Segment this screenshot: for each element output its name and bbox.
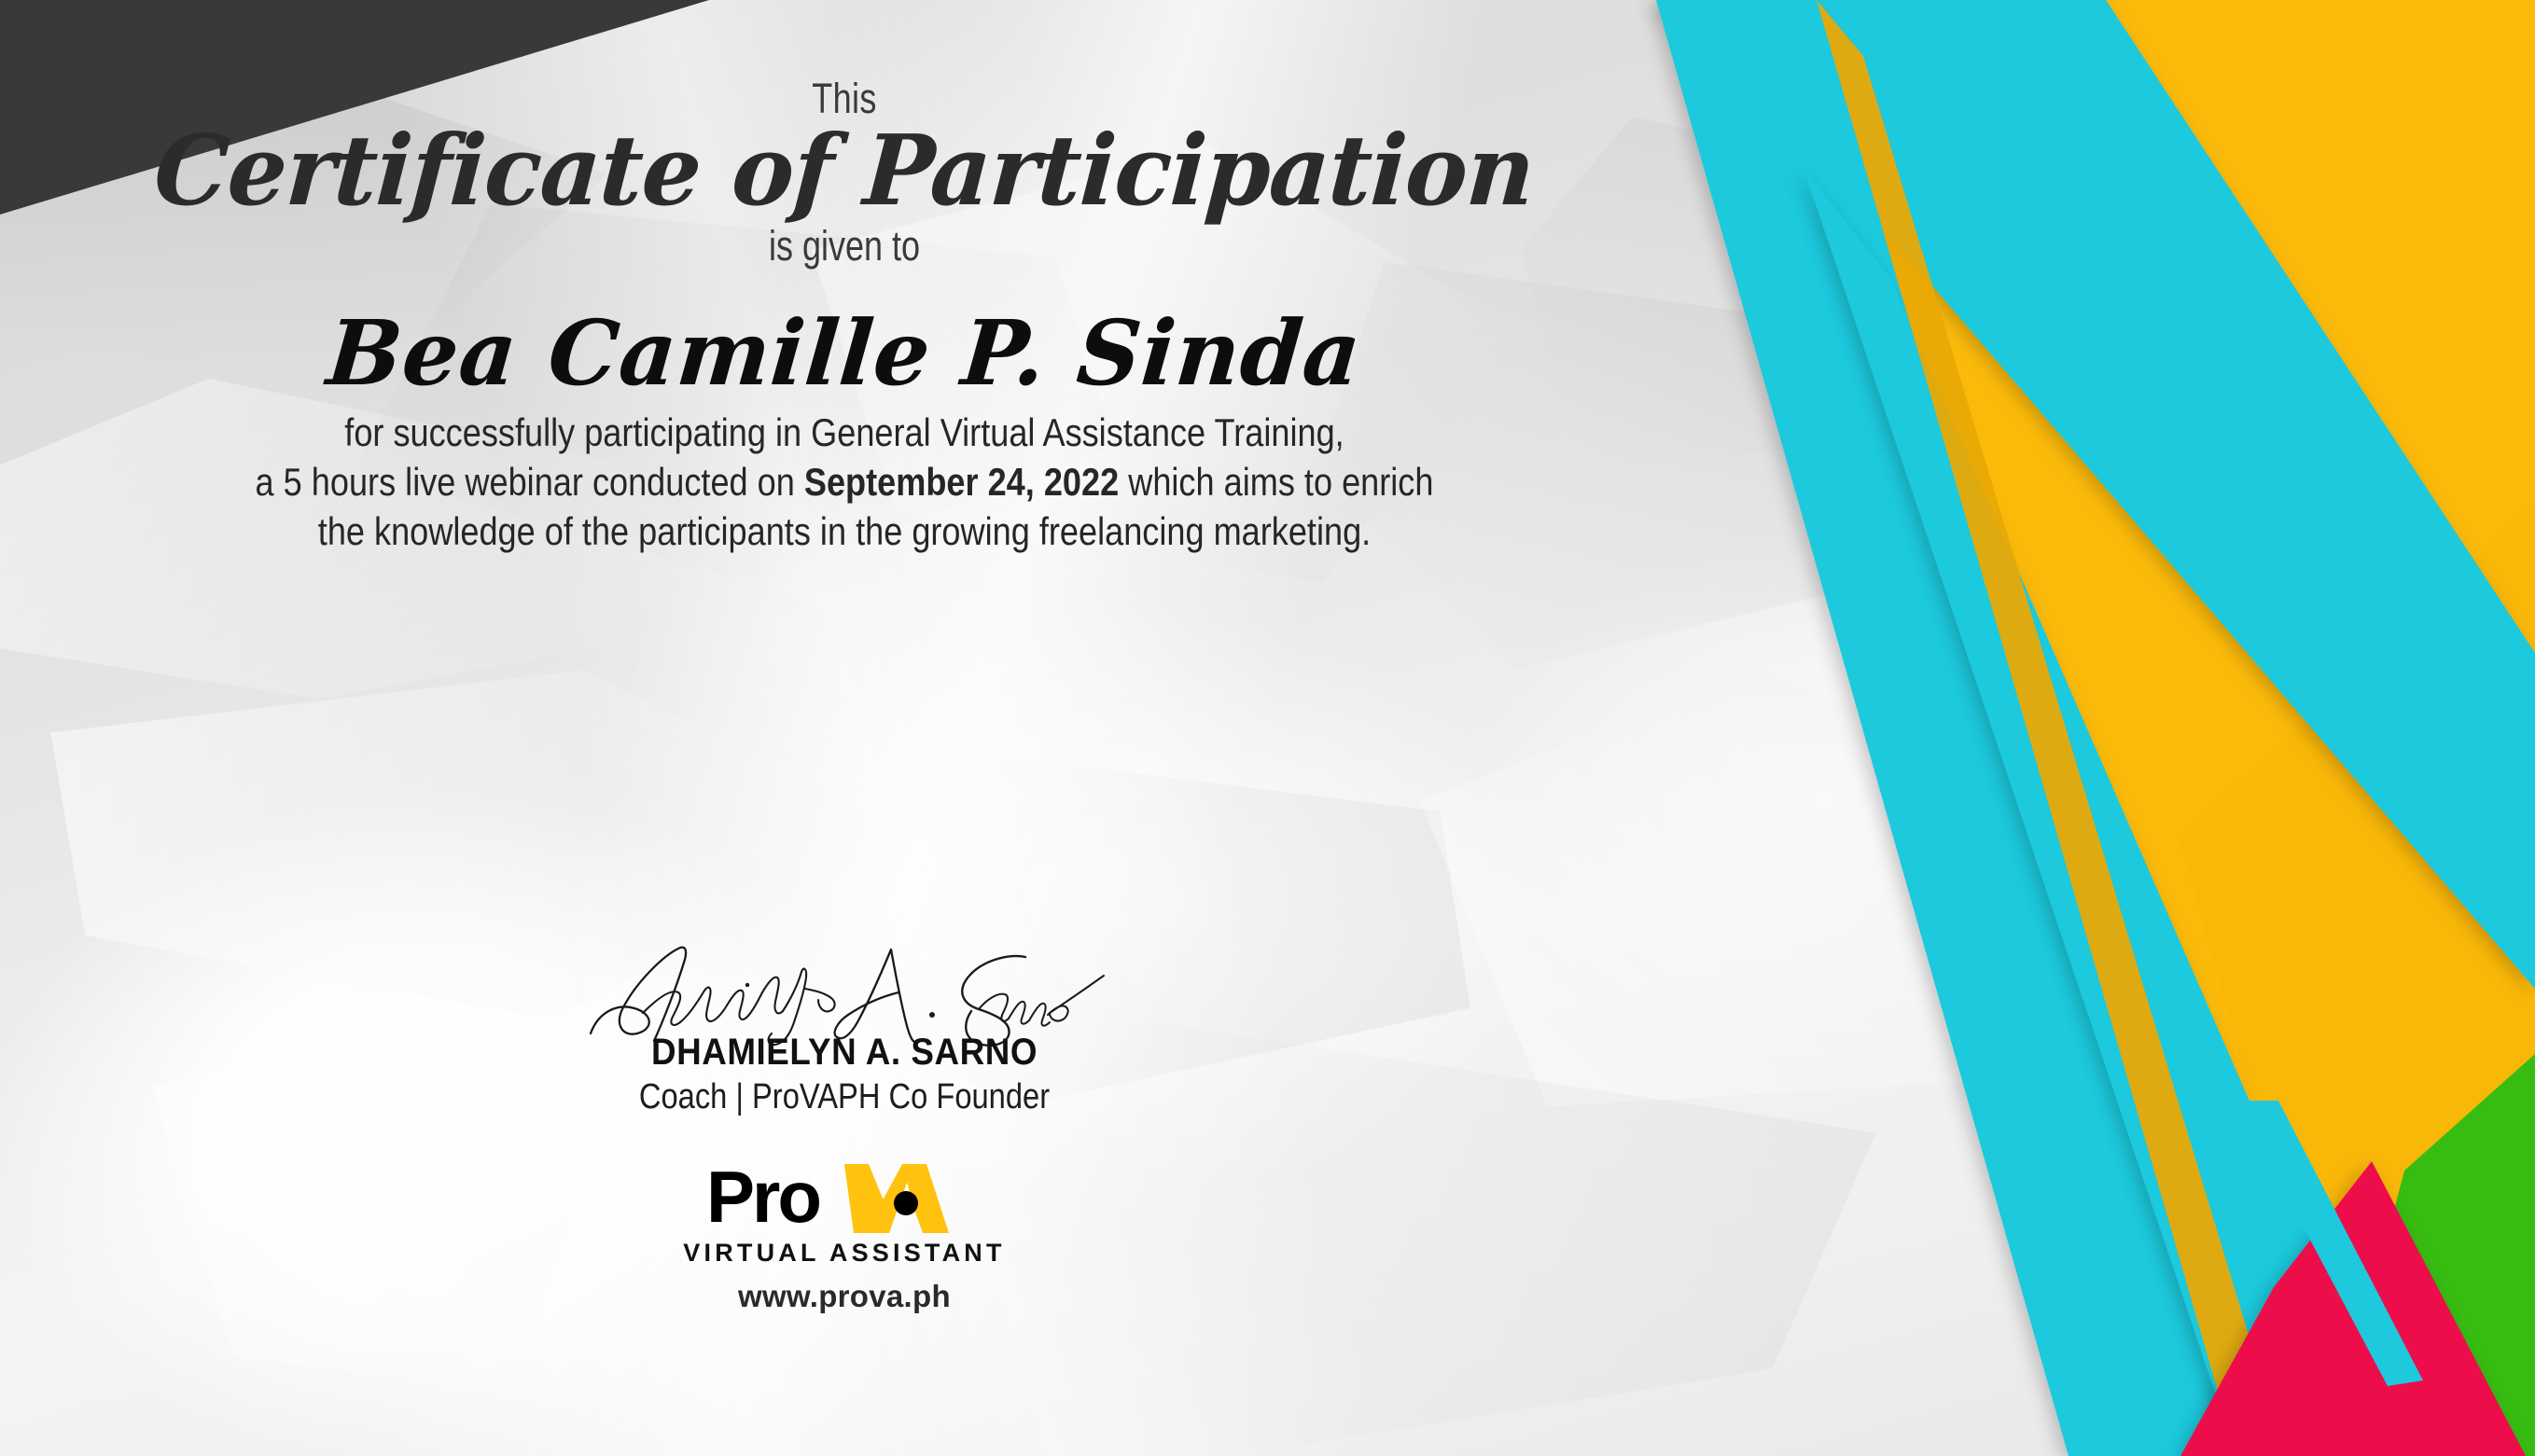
- event-date: September 24, 2022: [804, 460, 1119, 504]
- logo-tagline: VIRTUAL ASSISTANT: [0, 1239, 1689, 1268]
- certificate-title: Certificate of Participation: [31, 119, 1659, 221]
- signatory-role: Coach | ProVAPH Co Founder: [118, 1077, 1571, 1117]
- organization-logo-block: Pro VIRTUAL ASSISTANT www.prova.ph: [0, 1162, 1689, 1314]
- signature-block: DHAMIELYN A. SARNO Coach | ProVAPH Co Fo…: [0, 944, 1689, 1117]
- body-line-2: a 5 hours live webinar conducted on Sept…: [118, 458, 1571, 507]
- body-paragraph: for successfully participating in Genera…: [118, 409, 1571, 557]
- given-to-label: is given to: [169, 222, 1520, 270]
- certificate-content: This Certificate of Participation is giv…: [0, 0, 1689, 1456]
- body-line-1: for successfully participating in Genera…: [118, 409, 1571, 458]
- body-line-3: the knowledge of the participants in the…: [118, 507, 1571, 557]
- prova-logo-icon: Pro: [704, 1162, 984, 1235]
- certificate-canvas: This Certificate of Participation is giv…: [0, 0, 2535, 1456]
- logo-website: www.prova.ph: [0, 1279, 1689, 1314]
- signatory-name: DHAMIELYN A. SARNO: [67, 1032, 1621, 1074]
- logo-word-pro: Pro: [706, 1162, 819, 1235]
- body-line-2-suffix: which aims to enrich: [1119, 460, 1433, 504]
- decorative-ribbon-cluster: [1583, 0, 2535, 1456]
- logo-dot-icon: [894, 1191, 918, 1215]
- body-line-2-prefix: a 5 hours live webinar conducted on: [256, 460, 804, 504]
- recipient-name: Bea Camille P. Sinda: [12, 300, 1676, 406]
